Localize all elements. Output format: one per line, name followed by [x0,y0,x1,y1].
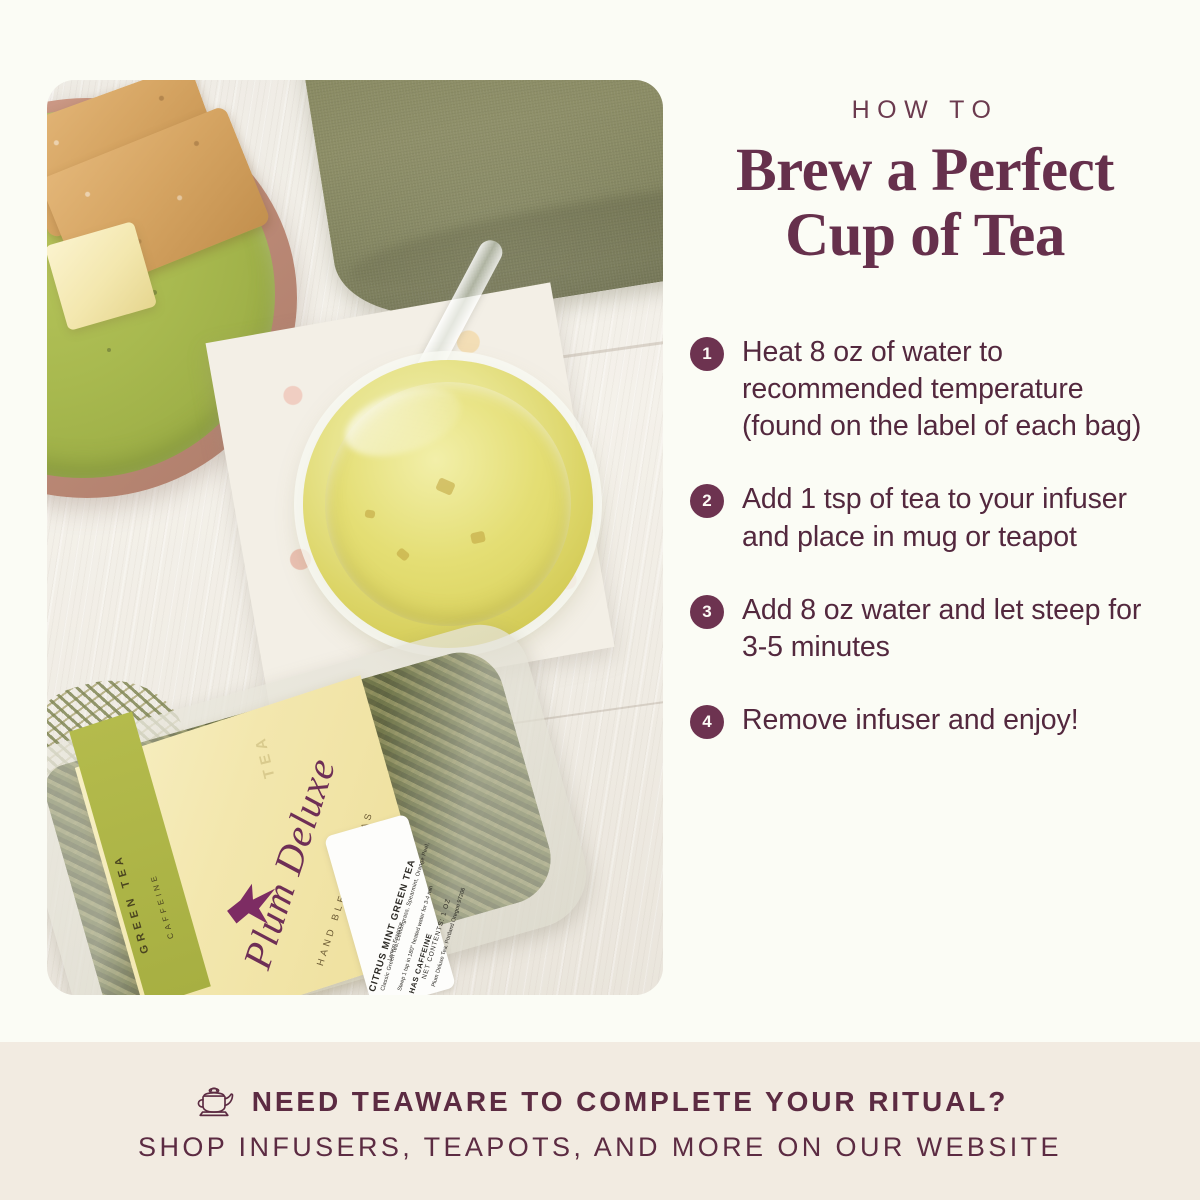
step-item: 4 Remove infuser and enjoy! [690,702,1160,739]
footer-title: NEED TEAWARE TO COMPLETE YOUR RITUAL? [252,1086,1009,1118]
step-number-badge: 3 [690,595,724,629]
step-number-badge: 4 [690,705,724,739]
kicker-text: HOW TO [690,96,1160,125]
step-item: 3 Add 8 oz water and let steep for 3-5 m… [690,592,1160,666]
step-number-badge: 1 [690,337,724,371]
instructions-panel: HOW TO Brew a Perfect Cup of Tea 1 Heat … [690,96,1160,739]
step-text: Heat 8 oz of water to recommended temper… [742,334,1160,445]
page-title: Brew a Perfect Cup of Tea [690,139,1160,268]
steps-list: 1 Heat 8 oz of water to recommended temp… [690,334,1160,738]
tea-flatlay-photo: TEA GREEN TEA CAFFEINE Plum Deluxe HAND … [47,80,663,995]
infographic-root: TEA GREEN TEA CAFFEINE Plum Deluxe HAND … [0,0,1200,1200]
headline-line-2: Cup of Tea [785,202,1065,269]
teapot-icon [192,1080,236,1124]
headline-line-1: Brew a Perfect [736,137,1114,204]
step-item: 1 Heat 8 oz of water to recommended temp… [690,334,1160,445]
step-text: Remove infuser and enjoy! [742,702,1079,739]
floating-tea-leaf [364,509,375,518]
step-item: 2 Add 1 tsp of tea to your infuser and p… [690,481,1160,555]
footer-banner: NEED TEAWARE TO COMPLETE YOUR RITUAL? SH… [0,1042,1200,1200]
footer-subtitle: SHOP INFUSERS, TEAPOTS, AND MORE ON OUR … [138,1132,1062,1163]
step-number-badge: 2 [690,484,724,518]
plate-speck [107,348,111,352]
step-text: Add 1 tsp of tea to your infuser and pla… [742,481,1160,555]
footer-headline-row: NEED TEAWARE TO COMPLETE YOUR RITUAL? [192,1080,1009,1124]
step-text: Add 8 oz water and let steep for 3-5 min… [742,592,1160,666]
